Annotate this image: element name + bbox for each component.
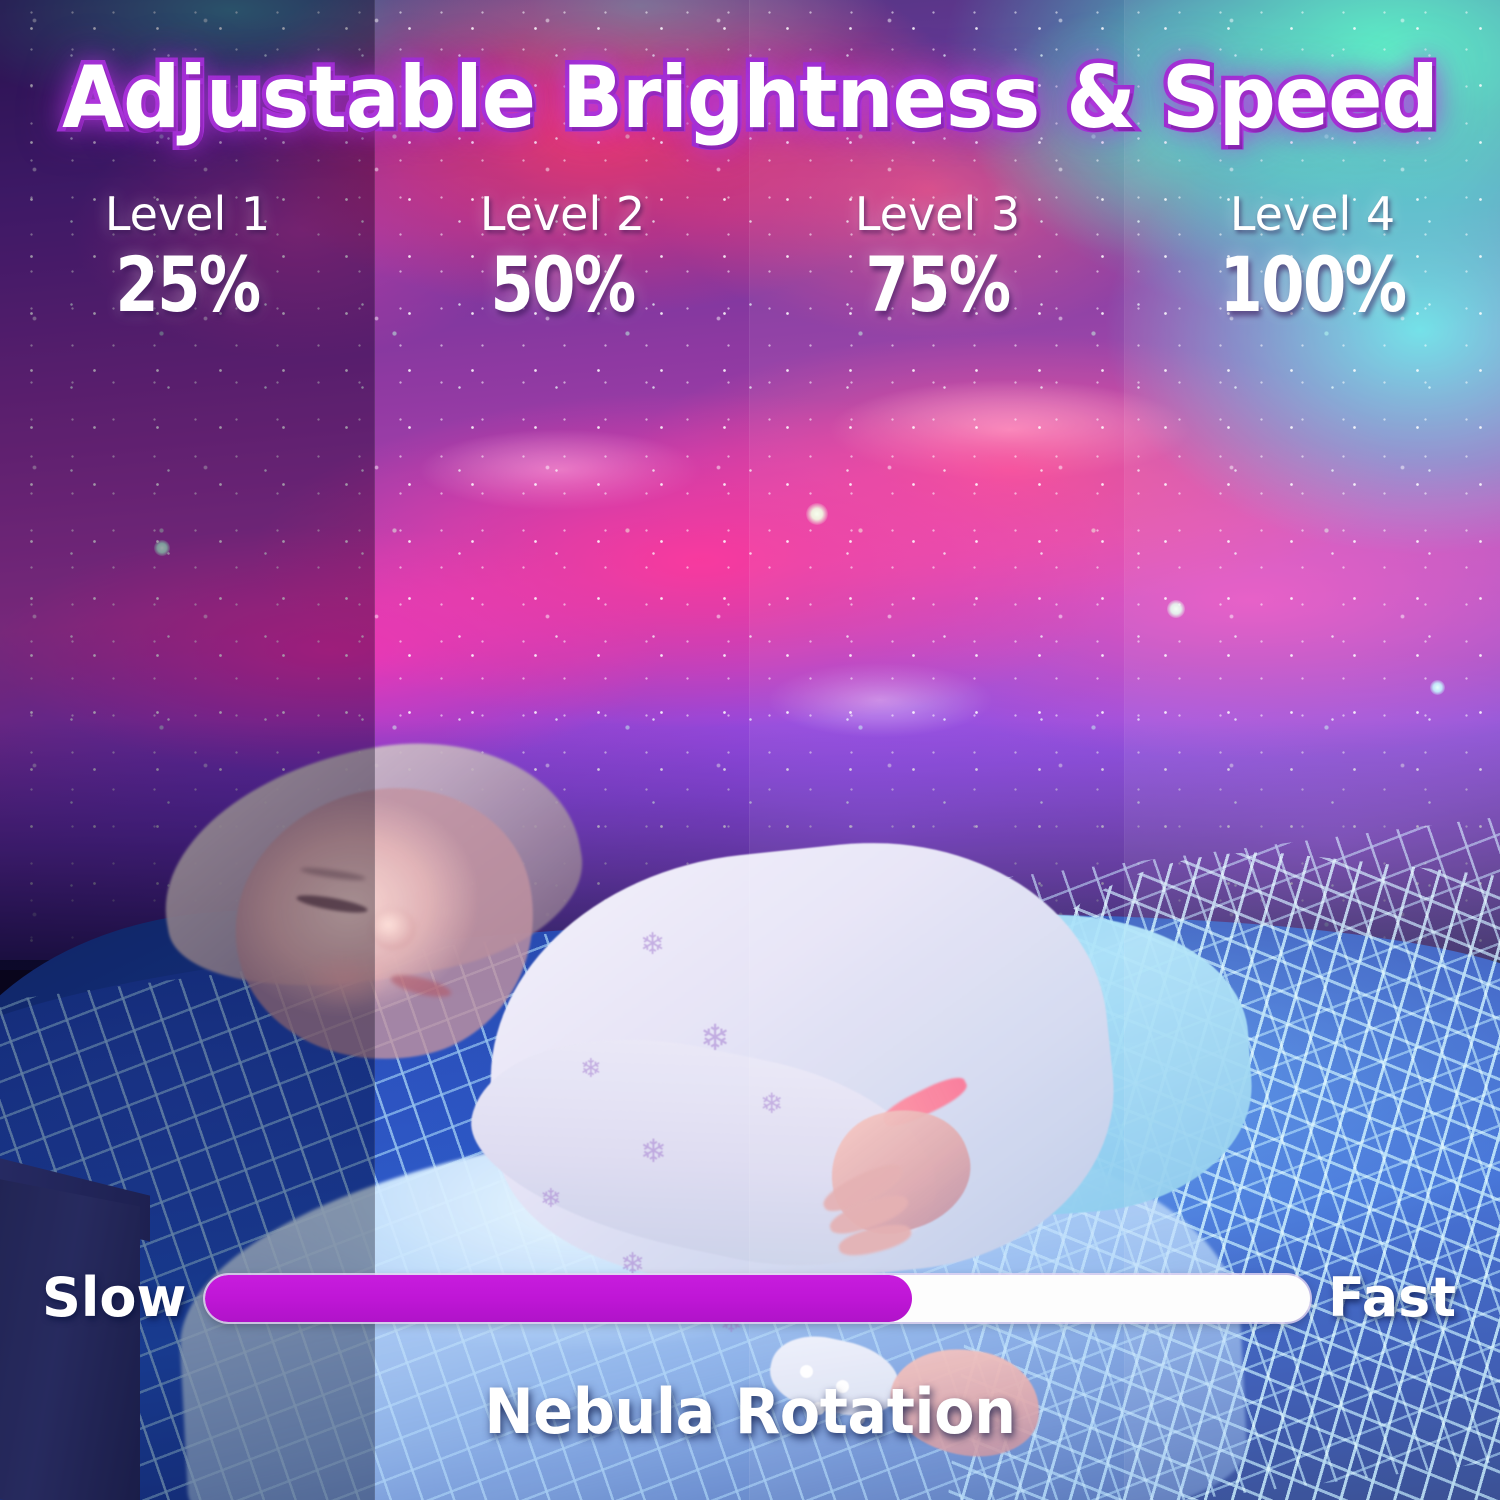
brightness-level-2: Level 2 50% xyxy=(375,190,750,324)
slider-max-label: Fast xyxy=(1328,1271,1456,1325)
speed-slider-track[interactable] xyxy=(205,1275,1310,1322)
speed-slider-row: Slow Fast xyxy=(0,1258,1500,1338)
speed-slider-fill[interactable] xyxy=(205,1275,912,1322)
level-percent: 75% xyxy=(784,246,1092,324)
level-name: Level 1 xyxy=(0,190,375,238)
brightness-level-4: Level 4 100% xyxy=(1125,190,1500,324)
slider-min-label: Slow xyxy=(42,1271,192,1325)
brightness-level-3: Level 3 75% xyxy=(750,190,1125,324)
level-percent: 100% xyxy=(1159,246,1467,324)
brightness-level-1: Level 1 25% xyxy=(0,190,375,324)
level-percent: 50% xyxy=(409,246,717,324)
level-name: Level 4 xyxy=(1125,190,1500,238)
product-feature-image: ❄ ❄ ❄ ❄ ❄ ❄ ❄ ❄ xyxy=(0,0,1500,1500)
brightness-level-labels: Level 1 25% Level 2 50% Level 3 75% Leve… xyxy=(0,190,1500,324)
text-overlay: Adjustable Brightness & Speed Level 1 25… xyxy=(0,0,1500,1500)
feature-caption: Nebula Rotation xyxy=(38,1375,1463,1448)
page-title: Adjustable Brightness & Speed xyxy=(53,48,1448,148)
level-percent: 25% xyxy=(34,246,342,324)
level-name: Level 2 xyxy=(375,190,750,238)
level-name: Level 3 xyxy=(750,190,1125,238)
